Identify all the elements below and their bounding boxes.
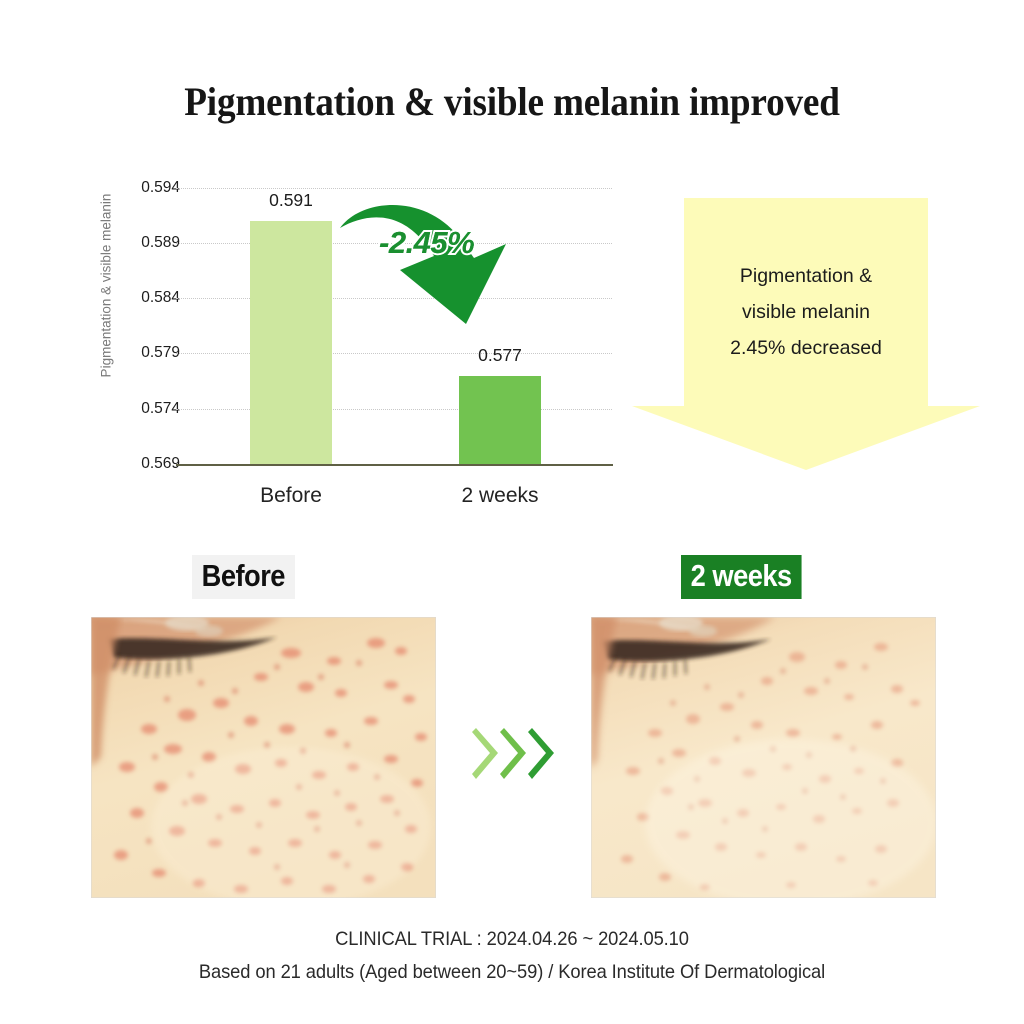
- photo-label-after: 2 weeks: [681, 555, 801, 599]
- y-tick-label: 0.579: [116, 344, 180, 362]
- callout-line-2: visible melanin: [632, 294, 980, 330]
- delta-percent-label: -2.45%: [379, 225, 474, 261]
- footer-line-1: CLINICAL TRIAL : 2024.04.26 ~ 2024.05.10: [31, 928, 994, 951]
- callout-text: Pigmentation & visible melanin 2.45% dec…: [632, 258, 980, 366]
- photo-label-before: Before: [192, 555, 295, 599]
- x-tick-label-2-weeks: 2 weeks: [461, 484, 538, 508]
- photo-before: [91, 617, 436, 898]
- x-tick-label-before: Before: [260, 484, 322, 508]
- footer-line-2: Based on 21 adults (Aged between 20~59) …: [31, 961, 994, 984]
- gridline: [176, 188, 612, 189]
- progress-chevrons-icon: [470, 726, 560, 782]
- photo-after: [591, 617, 936, 898]
- y-axis-label: Pigmentation & visible melanin: [99, 176, 114, 396]
- bar-value-label: 0.591: [269, 190, 313, 211]
- infographic-page: Pigmentation & visible melanin improved …: [0, 0, 1024, 1024]
- callout-line-1: Pigmentation &: [632, 258, 980, 294]
- y-tick-label: 0.589: [116, 234, 180, 252]
- gridline: [176, 298, 612, 299]
- bar-chart: Pigmentation & visible melanin 0.594 0.5…: [70, 178, 630, 498]
- y-tick-label: 0.594: [116, 179, 180, 197]
- summary-callout: Pigmentation & visible melanin 2.45% dec…: [632, 198, 980, 470]
- footer: CLINICAL TRIAL : 2024.04.26 ~ 2024.05.10…: [0, 928, 1024, 984]
- gridline: [176, 409, 612, 410]
- bar-before: 0.591 Before: [250, 221, 332, 464]
- y-tick-label: 0.569: [116, 455, 180, 473]
- bar-value-label: 0.577: [478, 345, 522, 366]
- x-axis-line: [176, 464, 613, 466]
- page-title: Pigmentation & visible melanin improved: [36, 78, 988, 125]
- bar-2-weeks: 0.577 2 weeks: [459, 376, 541, 464]
- y-tick-label: 0.584: [116, 289, 180, 307]
- callout-line-3: 2.45% decreased: [632, 330, 980, 366]
- y-tick-label: 0.574: [116, 400, 180, 418]
- gridline: [176, 353, 612, 354]
